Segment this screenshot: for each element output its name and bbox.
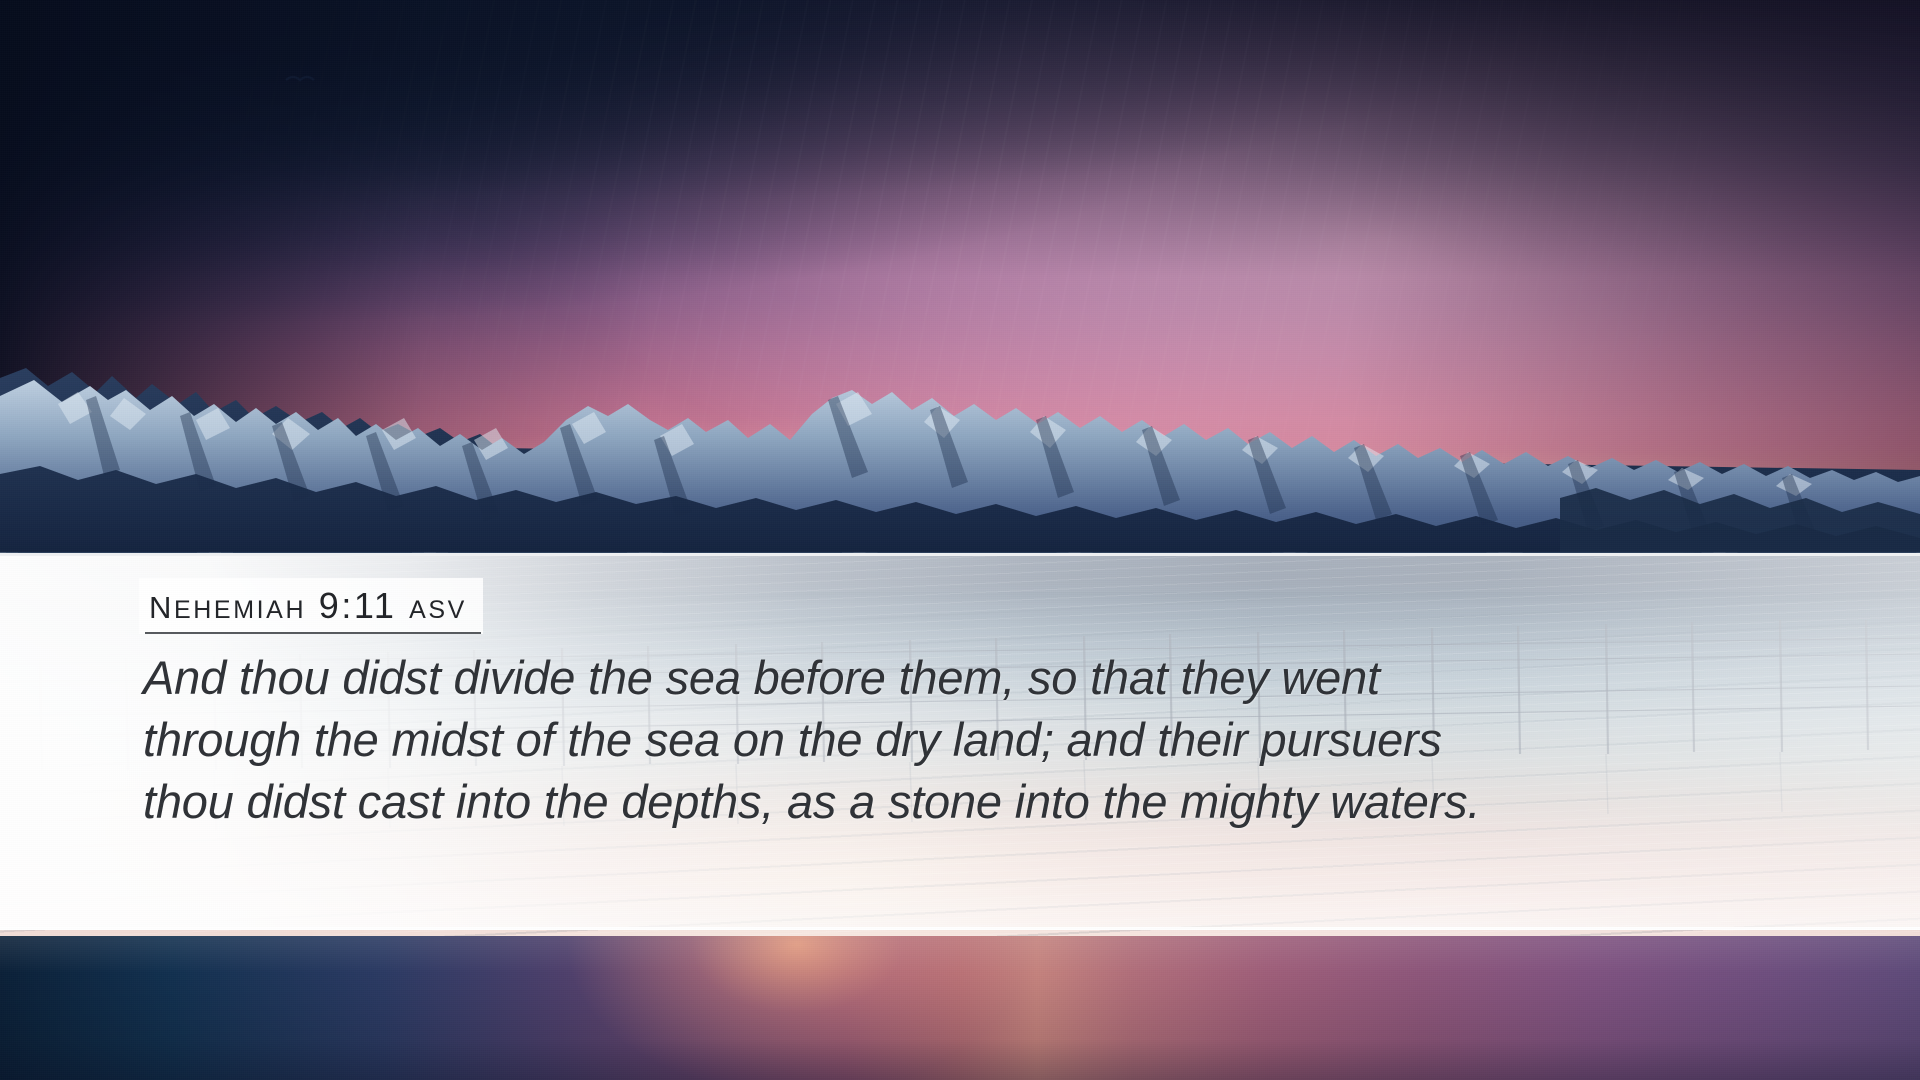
verse-reference: Nehemiah 9:11 ASV	[149, 581, 467, 627]
mountain-ridge	[0, 0, 1920, 600]
band-top-rule	[0, 553, 1920, 556]
band-bottom-rule	[0, 927, 1920, 930]
wallpaper-canvas: Nehemiah 9:11 ASV And thou didst divide …	[0, 0, 1920, 1080]
water-reflection-highlight	[0, 936, 1920, 1080]
reference-underline	[145, 632, 481, 634]
verse-text: And thou didst divide the sea before the…	[143, 647, 1833, 833]
verse-reference-plate: Nehemiah 9:11 ASV	[139, 578, 483, 634]
verse-block: Nehemiah 9:11 ASV And thou didst divide …	[143, 578, 1833, 833]
